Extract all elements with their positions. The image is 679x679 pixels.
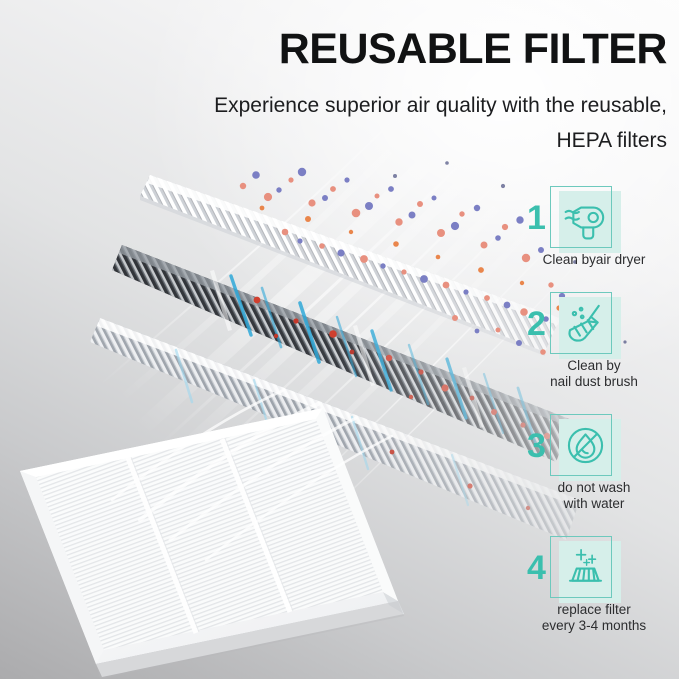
care-step-1-label: Clean byair dryer	[521, 252, 671, 268]
care-step-3-label-line-1: do not wash	[521, 480, 667, 496]
care-step-1-icon-box	[550, 186, 612, 248]
care-steps-list: 1 Clean byair dryer	[521, 186, 671, 658]
care-step-4-label-line-2: every 3-4 months	[521, 618, 667, 634]
care-step-3-label: do not wash with water	[521, 480, 671, 512]
care-step-2-label-line-1: Clean by	[521, 358, 667, 374]
care-step-2-icon-box	[550, 292, 612, 354]
care-step-4-label: replace filter every 3-4 months	[521, 602, 671, 634]
care-step-4-number: 4	[527, 542, 546, 594]
care-step-2-number: 2	[527, 298, 546, 350]
subtitle-line-2: HEPA filters	[90, 123, 667, 158]
broom-brush-icon	[559, 297, 612, 350]
care-step-2: 2	[521, 292, 671, 390]
reusable-filter-infographic: REUSABLE FILTER Experience superior air …	[0, 0, 679, 679]
no-water-icon	[559, 419, 612, 472]
care-step-4-icon-box	[550, 536, 612, 598]
replace-filter-icon	[559, 541, 612, 594]
care-step-2-label-line-2: nail dust brush	[521, 374, 667, 390]
care-step-1-head: 1	[521, 186, 671, 248]
care-step-4-label-line-1: replace filter	[521, 602, 667, 618]
care-step-1-label-line-1: Clean byair dryer	[521, 252, 667, 268]
care-step-3: 3 do not wash with water	[521, 414, 671, 512]
care-step-3-number: 3	[527, 420, 546, 472]
care-step-2-label: Clean by nail dust brush	[521, 358, 671, 390]
hair-dryer-icon	[559, 191, 612, 244]
care-step-4: 4	[521, 536, 671, 634]
care-step-3-icon-box	[550, 414, 612, 476]
page-title: REUSABLE FILTER	[0, 25, 667, 73]
subtitle-line-1: Experience superior air quality with the…	[90, 88, 667, 123]
care-step-2-head: 2	[521, 292, 671, 354]
care-step-1-number: 1	[527, 192, 546, 244]
care-step-4-head: 4	[521, 536, 671, 598]
care-step-3-label-line-2: with water	[521, 496, 667, 512]
page-subtitle: Experience superior air quality with the…	[90, 88, 667, 158]
care-step-3-head: 3	[521, 414, 671, 476]
care-step-1: 1 Clean byair dryer	[521, 186, 671, 268]
